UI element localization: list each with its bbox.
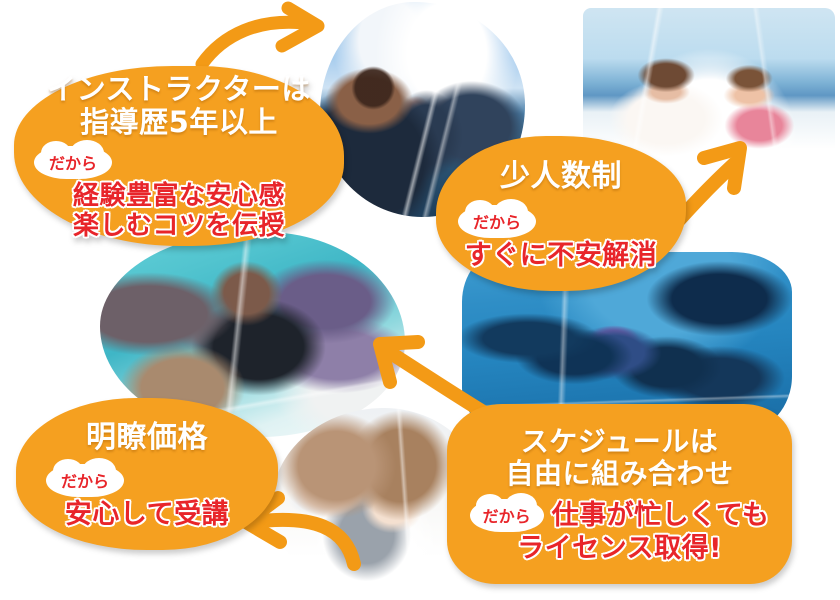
subline-line-1: 仕事が忙しくても bbox=[552, 500, 770, 531]
headline-line-1: インストラクターは bbox=[28, 73, 330, 107]
dakara-badge: だから bbox=[458, 205, 536, 238]
headline-line-2: 指導歴5年以上 bbox=[28, 106, 330, 140]
callout-clear-price-badge-row: だから bbox=[28, 464, 266, 497]
callout-small-group-subline: すぐに不安解消 bbox=[448, 240, 674, 271]
callout-clear-price-headline: 明瞭価格 bbox=[28, 421, 266, 456]
callout-clear-price: 明瞭価格 だから 安心して受講 bbox=[16, 398, 278, 550]
callout-instructor: インストラクターは 指導歴5年以上 だから 経験豊富な安心感 楽しむコツを伝授 bbox=[14, 66, 344, 246]
callout-clear-price-subline: 安心して受講 bbox=[28, 499, 266, 530]
callout-instructor-headline: インストラクターは 指導歴5年以上 bbox=[28, 73, 330, 140]
headline-line-1: 少人数制 bbox=[448, 160, 674, 195]
callout-schedule: スケジュールは 自由に組み合わせ だから 仕事が忙しくても ライセンス取得! bbox=[447, 404, 792, 584]
callout-schedule-headline: スケジュールは 自由に組み合わせ bbox=[461, 426, 778, 491]
callout-instructor-badge-row: だから bbox=[28, 146, 330, 179]
callout-small-group-badge-row: だから bbox=[448, 205, 674, 238]
callout-schedule-badge-row: だから 仕事が忙しくても bbox=[461, 499, 778, 532]
subline-line-2: ライセンス取得! bbox=[461, 533, 778, 564]
dakara-badge: だから bbox=[470, 499, 544, 532]
dakara-badge: だから bbox=[34, 146, 112, 179]
headline-line-1: スケジュールは bbox=[461, 426, 778, 458]
dakara-badge: だから bbox=[46, 464, 124, 497]
subline-line-1: 安心して受講 bbox=[28, 499, 266, 530]
subline-line-2: 楽しむコツを伝授 bbox=[28, 211, 330, 241]
subline-line-1: すぐに不安解消 bbox=[448, 240, 674, 271]
callout-small-group: 少人数制 だから すぐに不安解消 bbox=[436, 136, 686, 291]
callout-instructor-subline: 経験豊富な安心感 楽しむコツを伝授 bbox=[28, 181, 330, 241]
headline-line-2: 自由に組み合わせ bbox=[461, 458, 778, 490]
infographic-canvas: インストラクターは 指導歴5年以上 だから 経験豊富な安心感 楽しむコツを伝授 … bbox=[0, 0, 840, 600]
subline-line-1: 経験豊富な安心感 bbox=[28, 181, 330, 211]
headline-line-1: 明瞭価格 bbox=[28, 421, 266, 456]
callout-small-group-headline: 少人数制 bbox=[448, 160, 674, 195]
